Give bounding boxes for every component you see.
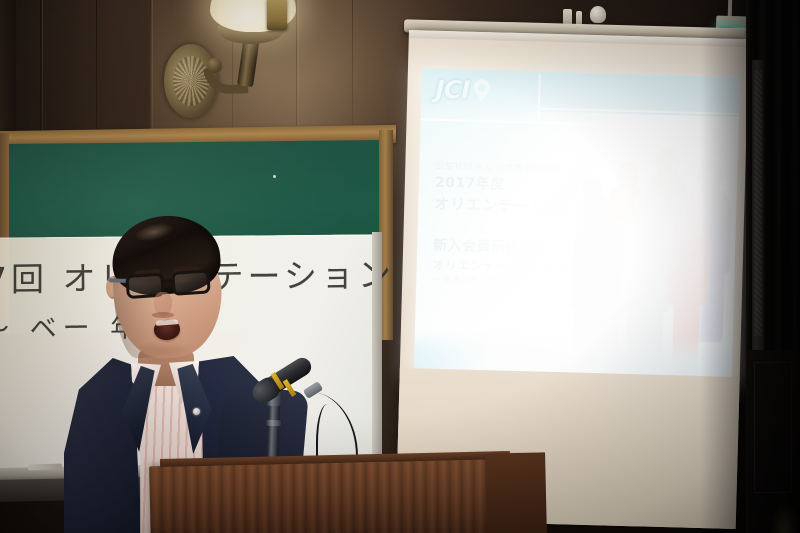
chin-shadow	[132, 340, 194, 362]
lapel-pin	[193, 408, 200, 415]
chalk-mark	[273, 175, 276, 178]
sconce-stem	[237, 39, 259, 87]
projected-slide: JCI 公益社団法人 日本青年会議所 2017年度 オリエンテーション委員会 新…	[414, 68, 740, 376]
whiteboard-marker	[28, 464, 62, 471]
glasses-lens-right	[171, 269, 211, 296]
floor-light-spill	[770, 500, 800, 533]
shelf-object	[576, 11, 582, 25]
microphone-stand[interactable]	[267, 400, 280, 462]
podium	[149, 459, 521, 533]
jci-wordmark: JCI	[435, 75, 470, 105]
nose-shadow	[152, 312, 174, 318]
podium-side-face	[485, 452, 547, 533]
photo-scene: 7回 オリエンテーション委員会 〜 ベー 年 ② JCI 公益社団法人 日本青年…	[0, 0, 800, 533]
door-glass-panel	[754, 70, 762, 336]
sconce-knob	[207, 58, 222, 73]
shelf-object	[590, 6, 606, 23]
whiteboard-right-frame	[372, 232, 382, 472]
wall-plaque	[267, 0, 287, 30]
location-pin-icon	[473, 79, 491, 102]
microphone-stand-collar	[266, 420, 281, 427]
jci-logo: JCI	[435, 75, 491, 105]
